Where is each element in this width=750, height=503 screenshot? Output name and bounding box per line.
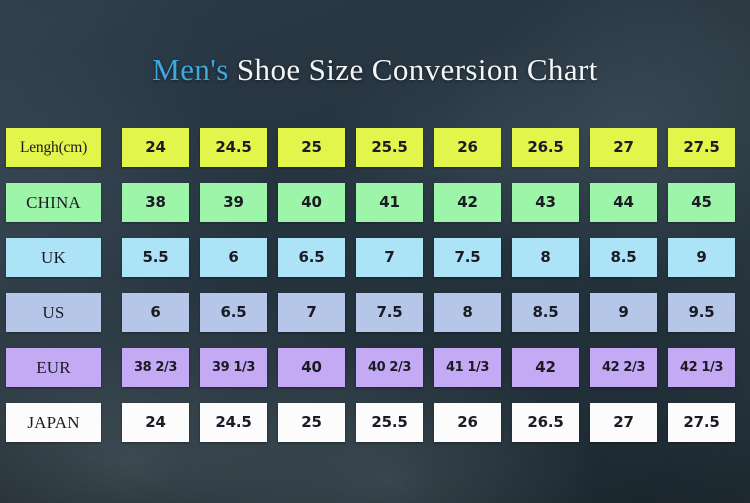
cell-eur-2: 39 1/3 xyxy=(200,348,267,387)
cell-length-7: 27 xyxy=(590,128,657,167)
cell-eur-5: 41 1/3 xyxy=(434,348,501,387)
cell-us-3: 7 xyxy=(278,293,345,332)
page-title: Men's Shoe Size Conversion Chart xyxy=(0,52,750,88)
cell-us-5: 8 xyxy=(434,293,501,332)
cell-china-7: 44 xyxy=(590,183,657,222)
cell-uk-2: 6 xyxy=(200,238,267,277)
cell-us-4: 7.5 xyxy=(356,293,423,332)
table-row-uk: UK 5.5 6 6.5 7 7.5 8 8.5 9 xyxy=(6,238,744,277)
cell-us-1: 6 xyxy=(122,293,189,332)
cell-china-5: 42 xyxy=(434,183,501,222)
cell-uk-8: 9 xyxy=(668,238,735,277)
row-label-us: US xyxy=(6,293,101,332)
cell-us-8: 9.5 xyxy=(668,293,735,332)
table-row-eur: EUR 38 2/3 39 1/3 40 40 2/3 41 1/3 42 42… xyxy=(6,348,744,387)
size-conversion-table: Lengh(cm) 24 24.5 25 25.5 26 26.5 27 27.… xyxy=(6,128,744,442)
table-row-china: CHINA 38 39 40 41 42 43 44 45 xyxy=(6,183,744,222)
cell-uk-5: 7.5 xyxy=(434,238,501,277)
cell-japan-6: 26.5 xyxy=(512,403,579,442)
cell-japan-2: 24.5 xyxy=(200,403,267,442)
cell-length-6: 26.5 xyxy=(512,128,579,167)
cell-length-8: 27.5 xyxy=(668,128,735,167)
cell-china-6: 43 xyxy=(512,183,579,222)
cell-uk-3: 6.5 xyxy=(278,238,345,277)
cell-eur-3: 40 xyxy=(278,348,345,387)
cell-length-5: 26 xyxy=(434,128,501,167)
cell-us-7: 9 xyxy=(590,293,657,332)
cell-japan-4: 25.5 xyxy=(356,403,423,442)
cell-china-8: 45 xyxy=(668,183,735,222)
cell-china-3: 40 xyxy=(278,183,345,222)
cell-china-2: 39 xyxy=(200,183,267,222)
table-row-length: Lengh(cm) 24 24.5 25 25.5 26 26.5 27 27.… xyxy=(6,128,744,167)
row-label-uk: UK xyxy=(6,238,101,277)
cell-length-2: 24.5 xyxy=(200,128,267,167)
cell-eur-1: 38 2/3 xyxy=(122,348,189,387)
page-title-text: Men's Shoe Size Conversion Chart xyxy=(0,52,750,88)
cell-japan-3: 25 xyxy=(278,403,345,442)
cell-japan-5: 26 xyxy=(434,403,501,442)
cell-uk-7: 8.5 xyxy=(590,238,657,277)
row-label-japan: JAPAN xyxy=(6,403,101,442)
cell-eur-8: 42 1/3 xyxy=(668,348,735,387)
cell-length-1: 24 xyxy=(122,128,189,167)
cell-uk-6: 8 xyxy=(512,238,579,277)
cell-us-6: 8.5 xyxy=(512,293,579,332)
cell-us-2: 6.5 xyxy=(200,293,267,332)
cell-china-1: 38 xyxy=(122,183,189,222)
cell-eur-6: 42 xyxy=(512,348,579,387)
cell-eur-7: 42 2/3 xyxy=(590,348,657,387)
row-label-length: Lengh(cm) xyxy=(6,128,101,167)
page-title-rest: Shoe Size Conversion Chart xyxy=(229,52,598,87)
cell-uk-4: 7 xyxy=(356,238,423,277)
cell-japan-8: 27.5 xyxy=(668,403,735,442)
page-title-accent: Men's xyxy=(152,52,228,87)
cell-japan-7: 27 xyxy=(590,403,657,442)
cell-japan-1: 24 xyxy=(122,403,189,442)
row-label-eur: EUR xyxy=(6,348,101,387)
shoe-size-chart-page: Men's Shoe Size Conversion Chart Lengh(c… xyxy=(0,0,750,503)
table-row-us: US 6 6.5 7 7.5 8 8.5 9 9.5 xyxy=(6,293,744,332)
table-row-japan: JAPAN 24 24.5 25 25.5 26 26.5 27 27.5 xyxy=(6,403,744,442)
cell-length-3: 25 xyxy=(278,128,345,167)
cell-eur-4: 40 2/3 xyxy=(356,348,423,387)
cell-china-4: 41 xyxy=(356,183,423,222)
cell-uk-1: 5.5 xyxy=(122,238,189,277)
cell-length-4: 25.5 xyxy=(356,128,423,167)
row-label-china: CHINA xyxy=(6,183,101,222)
